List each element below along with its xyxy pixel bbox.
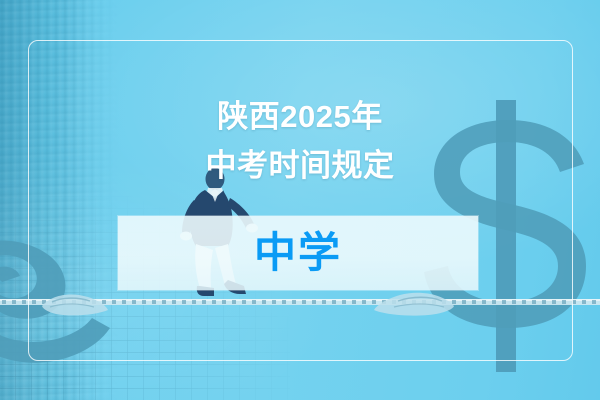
page-title: 陕西2025年 中考时间规定 xyxy=(0,92,600,190)
poster-canvas: 陕西2025年 中考时间规定 中学 xyxy=(0,0,600,400)
keyword-label: 中学 xyxy=(118,216,478,290)
page-title-line-1: 陕西2025年 xyxy=(0,92,600,141)
page-title-line-2: 中考时间规定 xyxy=(0,141,600,190)
hand-holding-rope-icon xyxy=(372,286,458,318)
hand-holding-rope-icon xyxy=(38,288,110,318)
